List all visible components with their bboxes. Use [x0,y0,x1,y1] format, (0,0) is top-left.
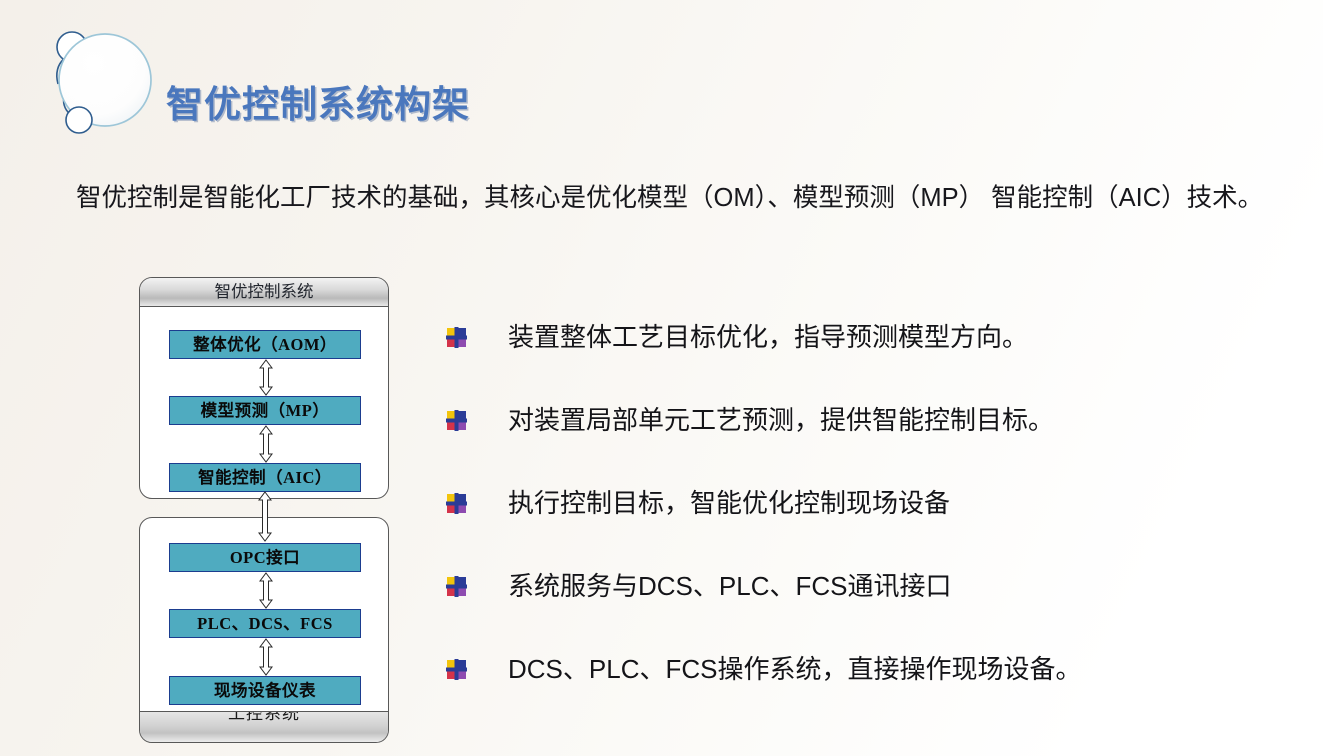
cross-bullet-icon [446,493,467,514]
connector-aom-to-mp-icon [258,359,274,396]
connector-aic-to-opc-icon [257,491,273,542]
intro-text: 智优控制是智能化工厂技术的基础，其核心是优化模型（OM）、模型预测（MP） 智能… [76,184,1263,212]
bullet-text: 对装置局部单元工艺预测，提供智能控制目标。 [508,401,1054,439]
node-aic[interactable]: 智能控制（AIC） [169,463,361,492]
circles-ornament-icon [44,22,164,140]
node-aom[interactable]: 整体优化（AOM） [169,330,361,359]
connector-opc-to-plc-icon [258,572,274,609]
top-panel: 智优控制系统 整体优化（AOM） 模型预测（MP） 智能控制（AIC） [139,277,389,499]
node-field-devices[interactable]: 现场设备仪表 [169,676,361,705]
page-title: 智优控制系统构架 [166,74,470,128]
bullet-text: 执行控制目标，智能优化控制现场设备 [508,484,950,522]
node-mp[interactable]: 模型预测（MP） [169,396,361,425]
intro-paragraph: 智优控制是智能化工厂技术的基础，其核心是优化模型（OM）、模型预测（MP） 智能… [22,175,1267,222]
node-plc-dcs-fcs[interactable]: PLC、DCS、FCS [169,609,361,638]
cross-bullet-icon [446,410,467,431]
top-panel-header: 智优控制系统 [140,278,388,307]
architecture-diagram: 智优控制系统 整体优化（AOM） 模型预测（MP） 智能控制（AIC） OPC接… [139,277,391,743]
bullet-text: DCS、PLC、FCS操作系统，直接操作现场设备。 [508,650,1081,688]
cross-bullet-icon [446,327,467,348]
list-item: 系统服务与DCS、PLC、FCS通讯接口 [446,559,1286,642]
bullet-text: 装置整体工艺目标优化，指导预测模型方向。 [508,318,1028,356]
node-opc[interactable]: OPC接口 [169,543,361,572]
connector-plc-to-field-icon [258,638,274,676]
cross-bullet-icon [446,659,467,680]
cross-bullet-icon [446,576,467,597]
bullet-text: 系统服务与DCS、PLC、FCS通讯接口 [508,567,951,605]
slide-header: 智优控制系统构架 [0,0,1323,150]
list-item: 装置整体工艺目标优化，指导预测模型方向。 [446,310,1286,393]
list-item: 对装置局部单元工艺预测，提供智能控制目标。 [446,393,1286,476]
list-item: 执行控制目标，智能优化控制现场设备 [446,476,1286,559]
connector-mp-to-aic-icon [258,425,274,463]
bottom-panel-footer: 工控系统 [140,711,388,742]
bottom-panel: OPC接口 PLC、DCS、FCS 现场设备仪表 工控系统 [139,517,389,743]
list-item: DCS、PLC、FCS操作系统，直接操作现场设备。 [446,642,1286,725]
bottom-panel-footer-label: 工控系统 [140,711,388,724]
bullet-list: 装置整体工艺目标优化，指导预测模型方向。 对装置局部单元工艺预测，提供智能控制目… [446,310,1286,725]
